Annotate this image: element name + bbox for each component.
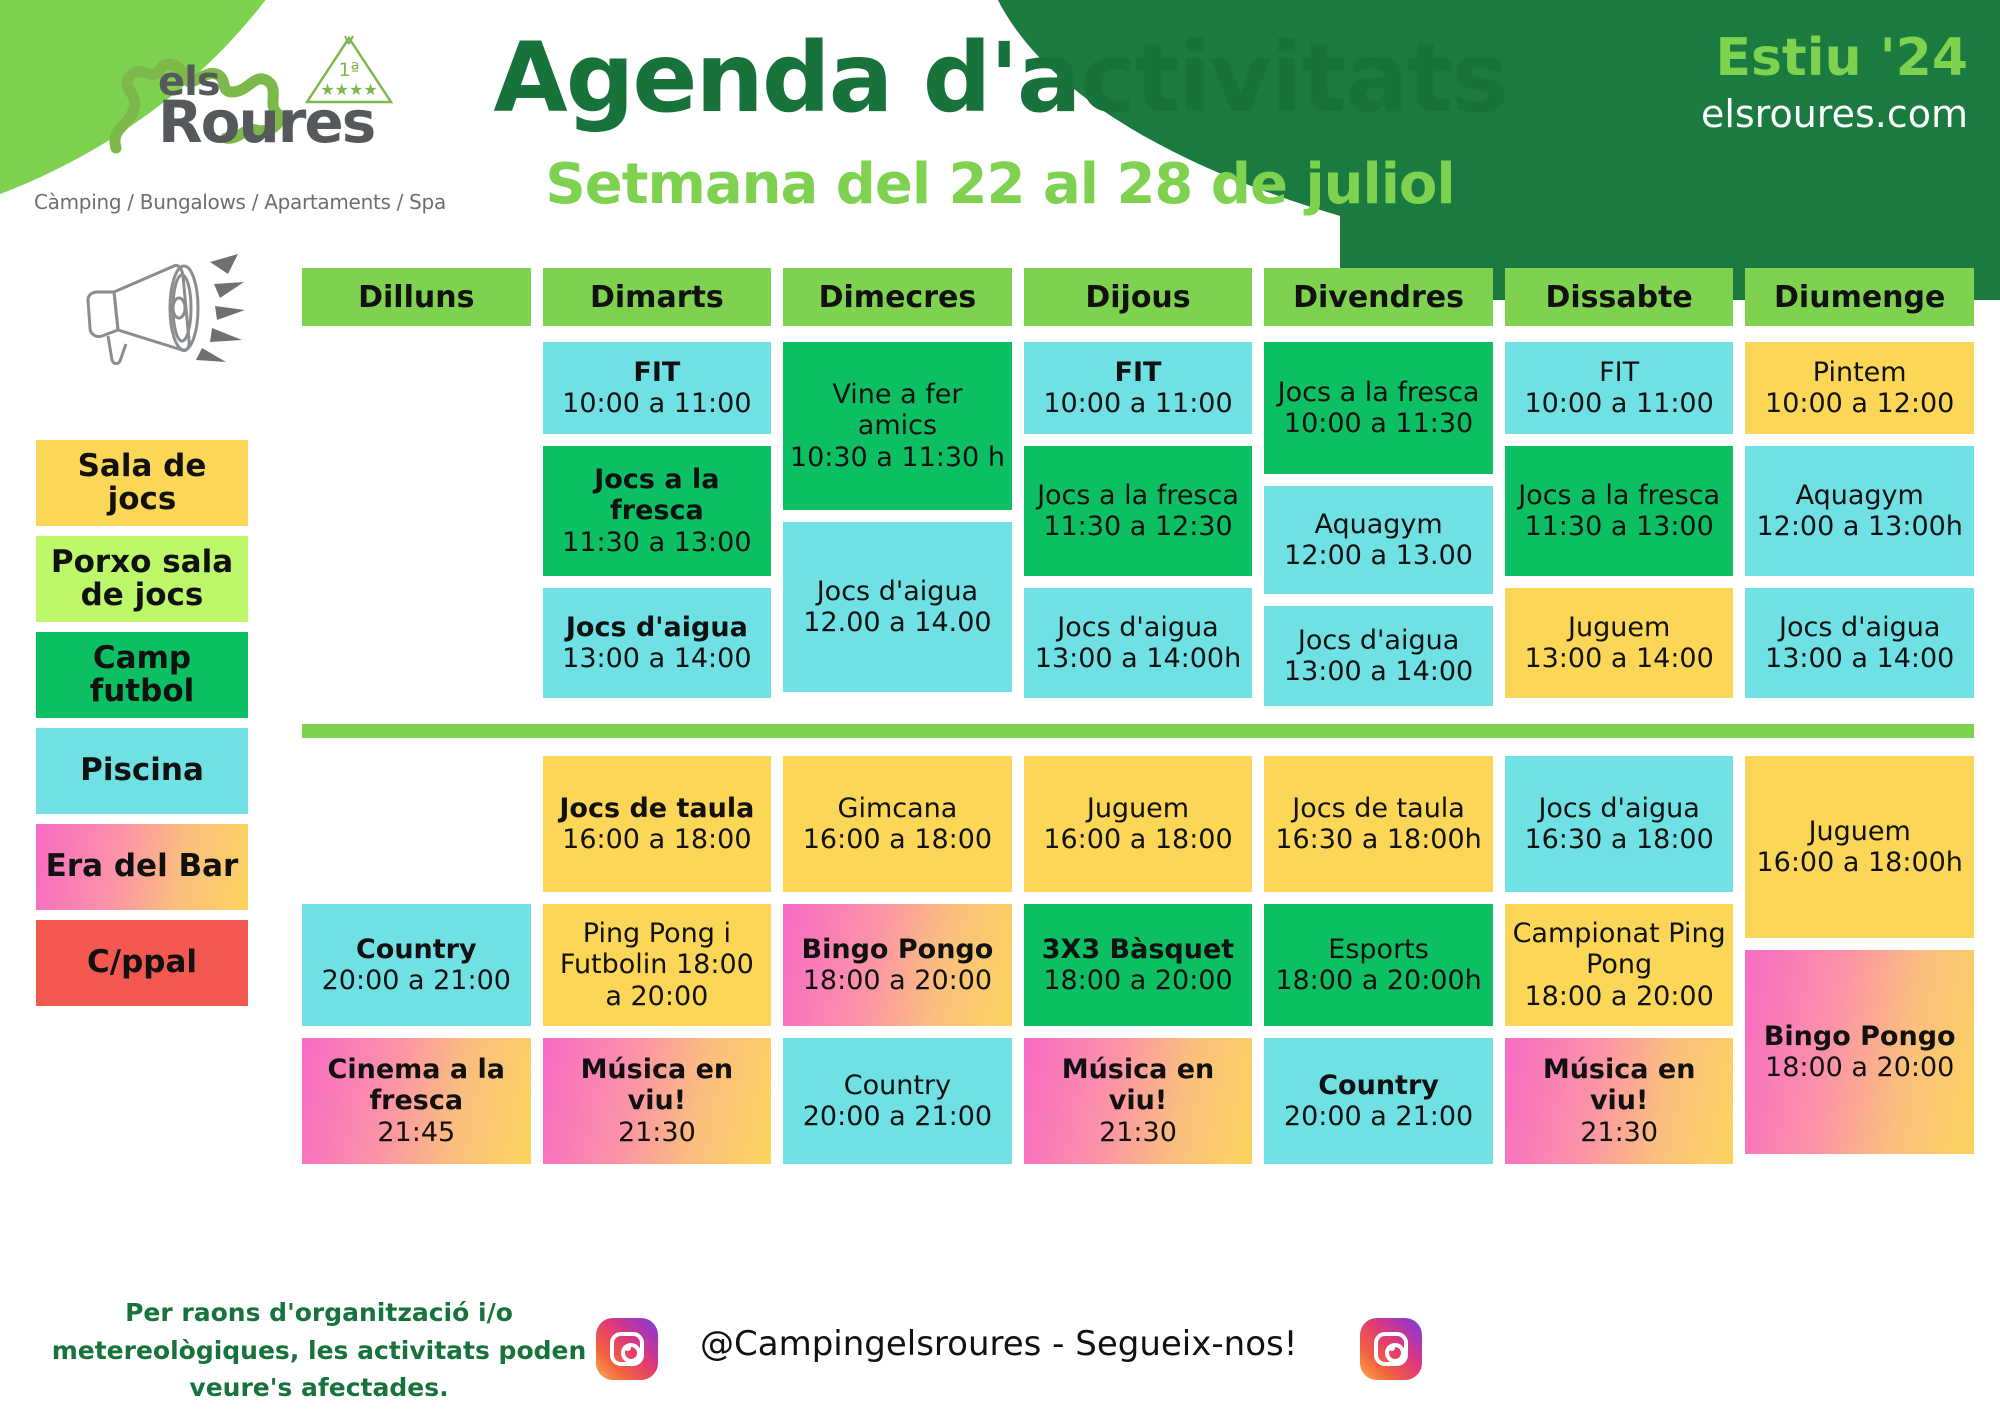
activity-title: Aquagym: [1314, 509, 1442, 540]
activity-title: Jocs d'aigua: [1298, 625, 1459, 656]
day-header-dimecres: Dimecres: [783, 268, 1012, 326]
instagram-icon[interactable]: [596, 1318, 658, 1380]
activity-time: 20:00 a 21:00: [803, 1101, 992, 1132]
activity-cell: Jocs a la fresca11:30 a 13:00: [543, 446, 772, 576]
afternoon-column-diumenge: Juguem16:00 a 18:00hBingo Pongo18:00 a 2…: [1745, 756, 1974, 1154]
morning-column-dijous: FIT10:00 a 11:00Jocs a la fresca11:30 a …: [1024, 342, 1253, 698]
activity-cell: 3X3 Bàsquet18:00 a 20:00: [1024, 904, 1253, 1026]
activity-cell: Gimcana16:00 a 18:00: [783, 756, 1012, 892]
legend-item: Era del Bar: [36, 824, 248, 910]
activity-title: Bingo Pongo: [1764, 1021, 1956, 1052]
activity-title: Jocs a la fresca: [1518, 480, 1720, 511]
day-header-dissabte: Dissabte: [1505, 268, 1734, 326]
activity-time: 10:00 a 12:00: [1765, 388, 1954, 419]
activity-time: 10:00 a 11:30: [1284, 408, 1473, 439]
activity-title: 3X3 Bàsquet: [1042, 934, 1234, 965]
activity-cell: FIT10:00 a 11:00: [1505, 342, 1734, 434]
activity-time: 16:30 a 18:00h: [1275, 824, 1481, 855]
morning-column-dimecres: Vine a fer amics10:30 a 11:30 hJocs d'ai…: [783, 342, 1012, 692]
activity-title: Gimcana: [838, 793, 958, 824]
day-header-row: DillunsDimartsDimecresDijousDivendresDis…: [302, 268, 1974, 326]
activity-time: 13:00 a 14:00: [562, 643, 751, 674]
activity-time: 21:30: [1580, 1117, 1658, 1148]
page-subtitle: Setmana del 22 al 28 de juliol: [0, 152, 2000, 217]
activity-time: 12:00 a 13.00: [1284, 540, 1473, 571]
activity-cell: Country20:00 a 21:00: [1264, 1038, 1493, 1164]
activity-cell: Cinema a la fresca21:45: [302, 1038, 531, 1164]
activity-time: 13:00 a 14:00: [1765, 643, 1954, 674]
megaphone-icon: [78, 248, 246, 366]
activity-time: 18:00 a 20:00: [1043, 965, 1232, 996]
legend-item: Piscina: [36, 728, 248, 814]
legend-item-label: Piscina: [80, 754, 204, 787]
afternoon-activities-row: Country20:00 a 21:00Cinema a la fresca21…: [302, 756, 1974, 1164]
legend-item-label: Porxo sala de jocs: [42, 546, 242, 613]
activity-cell: Jocs d'aigua13:00 a 14:00h: [1024, 588, 1253, 698]
activity-time: 20:00 a 21:00: [322, 965, 511, 996]
afternoon-column-dilluns: Country20:00 a 21:00Cinema a la fresca21…: [302, 756, 531, 1164]
activity-cell: Country20:00 a 21:00: [783, 1038, 1012, 1164]
activity-cell: Jocs a la fresca11:30 a 12:30: [1024, 446, 1253, 576]
day-header-dilluns: Dilluns: [302, 268, 531, 326]
activity-cell: Jocs d'aigua12.00 a 14.00: [783, 522, 1012, 692]
activity-title: Juguem: [1568, 612, 1670, 643]
disclaimer-text: Per raons d'organització i/o metereològi…: [34, 1294, 604, 1407]
activity-cell: Jocs de taula16:30 a 18:00h: [1264, 756, 1493, 892]
activity-title: Música en viu!: [1030, 1054, 1247, 1117]
activity-title: Ping Pong i Futbolin 18:00 a 20:00: [549, 918, 766, 1012]
legend-item-label: Era del Bar: [46, 850, 239, 883]
activity-title: Música en viu!: [549, 1054, 766, 1117]
activity-title: Aquagym: [1796, 480, 1924, 511]
activity-time: 13:00 a 14:00: [1284, 656, 1473, 687]
activity-time: 18:00 a 20:00h: [1275, 965, 1481, 996]
activity-cell: FIT10:00 a 11:00: [543, 342, 772, 434]
schedule-grid: DillunsDimartsDimecresDijousDivendresDis…: [302, 268, 1974, 1164]
activity-cell: Jocs de taula16:00 a 18:00: [543, 756, 772, 892]
activity-cell: Aquagym12:00 a 13:00h: [1745, 446, 1974, 576]
activity-time: 16:00 a 18:00: [803, 824, 992, 855]
day-header-dijous: Dijous: [1024, 268, 1253, 326]
activity-cell: Música en viu!21:30: [1024, 1038, 1253, 1164]
activity-cell: Country20:00 a 21:00: [302, 904, 531, 1026]
activity-cell: Juguem16:00 a 18:00: [1024, 756, 1253, 892]
activity-time: 11:30 a 12:30: [1043, 511, 1232, 542]
activity-title: Jocs a la fresca: [1278, 377, 1480, 408]
morning-activities-row: FIT10:00 a 11:00Jocs a la fresca11:30 a …: [302, 342, 1974, 706]
activity-time: 11:30 a 13:00: [1524, 511, 1713, 542]
activity-time: 20:00 a 21:00: [1284, 1101, 1473, 1132]
activity-title: Vine a fer amics: [789, 379, 1006, 442]
season-label: Estiu '24: [1701, 28, 1968, 88]
activity-time: 18:00 a 20:00: [803, 965, 992, 996]
activity-title: Campionat Ping Pong: [1511, 918, 1728, 981]
activity-title: Música en viu!: [1511, 1054, 1728, 1117]
activity-title: Juguem: [1087, 793, 1189, 824]
afternoon-column-dissabte: Jocs d'aigua16:30 a 18:00Campionat Ping …: [1505, 756, 1734, 1164]
activity-time: 13:00 a 14:00h: [1035, 643, 1241, 674]
activity-title: Esports: [1328, 934, 1429, 965]
activity-time: 21:30: [1099, 1117, 1177, 1148]
legend-item: C/ppal: [36, 920, 248, 1006]
activity-cell: Jocs d'aigua16:30 a 18:00: [1505, 756, 1734, 892]
activity-cell: Bingo Pongo18:00 a 20:00: [783, 904, 1012, 1026]
afternoon-column-dimarts: Jocs de taula16:00 a 18:00Ping Pong i Fu…: [543, 756, 772, 1164]
activity-cell: Juguem13:00 a 14:00: [1505, 588, 1734, 698]
legend-item-label: C/ppal: [87, 946, 197, 979]
activity-cell: Campionat Ping Pong18:00 a 20:00: [1505, 904, 1734, 1026]
activity-time: 12.00 a 14.00: [803, 607, 991, 638]
activity-title: Country: [356, 934, 477, 965]
activity-time: 10:30 a 11:30 h: [790, 442, 1005, 473]
activity-title: Juguem: [1809, 816, 1911, 847]
activity-title: Country: [1318, 1070, 1439, 1101]
activity-time: 16:00 a 18:00: [562, 824, 751, 855]
activity-title: Pintem: [1813, 357, 1907, 388]
day-header-divendres: Divendres: [1264, 268, 1493, 326]
activity-title: Jocs a la fresca: [1037, 480, 1239, 511]
activity-time: 16:00 a 18:00: [1043, 824, 1232, 855]
morning-column-dimarts: FIT10:00 a 11:00Jocs a la fresca11:30 a …: [543, 342, 772, 698]
legend-item: Porxo sala de jocs: [36, 536, 248, 622]
activity-cell: Jocs d'aigua13:00 a 14:00: [543, 588, 772, 698]
activity-title: Jocs d'aigua: [566, 612, 748, 643]
activity-title: Jocs d'aigua: [1779, 612, 1940, 643]
morning-column-dissabte: FIT10:00 a 11:00Jocs a la fresca11:30 a …: [1505, 342, 1734, 698]
activity-time: 10:00 a 11:00: [1524, 388, 1713, 419]
section-divider: [302, 724, 1974, 738]
website-label: elsroures.com: [1701, 92, 1968, 136]
activity-title: Jocs d'aigua: [817, 576, 978, 607]
activity-cell: Jocs a la fresca10:00 a 11:30: [1264, 342, 1493, 474]
poster-footer: Per raons d'organització i/o metereològi…: [0, 1280, 2000, 1400]
legend-item-label: Camp futbol: [42, 642, 242, 709]
day-header-dimarts: Dimarts: [543, 268, 772, 326]
activity-cell: Música en viu!21:30: [1505, 1038, 1734, 1164]
activity-time: 13:00 a 14:00: [1524, 643, 1713, 674]
activity-cell: FIT10:00 a 11:00: [1024, 342, 1253, 434]
legend-item-label: Sala de jocs: [42, 450, 242, 517]
activity-title: Cinema a la fresca: [308, 1054, 525, 1117]
morning-column-divendres: Jocs a la fresca10:00 a 11:30Aquagym12:0…: [1264, 342, 1493, 706]
activity-time: 11:30 a 13:00: [562, 527, 751, 558]
legend-item: Camp futbol: [36, 632, 248, 718]
activity-cell: Bingo Pongo18:00 a 20:00: [1745, 950, 1974, 1154]
activity-cell: Jocs d'aigua13:00 a 14:00: [1745, 588, 1974, 698]
venue-legend: Sala de jocsPorxo sala de jocsCamp futbo…: [36, 440, 248, 1016]
social-handle[interactable]: @Campingelsroures - Segueix-nos!: [700, 1324, 1297, 1364]
activity-time: 12:00 a 13:00h: [1756, 511, 1962, 542]
legend-item: Sala de jocs: [36, 440, 248, 526]
activity-title: Jocs d'aigua: [1057, 612, 1218, 643]
activity-cell: Ping Pong i Futbolin 18:00 a 20:00: [543, 904, 772, 1026]
activity-cell: Esports18:00 a 20:00h: [1264, 904, 1493, 1026]
activity-time: 16:00 a 18:00h: [1756, 847, 1962, 878]
activity-cell: Vine a fer amics10:30 a 11:30 h: [783, 342, 1012, 510]
activity-time: 10:00 a 11:00: [1043, 388, 1232, 419]
activity-title: FIT: [1599, 357, 1639, 388]
activity-time: 10:00 a 11:00: [562, 388, 751, 419]
activity-time: 21:30: [618, 1117, 696, 1148]
activity-time: 21:45: [377, 1117, 455, 1148]
activity-title: Bingo Pongo: [802, 934, 994, 965]
activity-title: FIT: [633, 357, 680, 388]
season-badge: Estiu '24 elsroures.com: [1701, 28, 1968, 136]
afternoon-column-dijous: Juguem16:00 a 18:003X3 Bàsquet18:00 a 20…: [1024, 756, 1253, 1164]
activity-time: 18:00 a 20:00: [1765, 1052, 1954, 1083]
activity-title: Jocs d'aigua: [1538, 793, 1699, 824]
activity-cell: Juguem16:00 a 18:00h: [1745, 756, 1974, 938]
activity-cell: Música en viu!21:30: [543, 1038, 772, 1164]
afternoon-column-dimecres: Gimcana16:00 a 18:00Bingo Pongo18:00 a 2…: [783, 756, 1012, 1164]
activity-cell: Jocs d'aigua13:00 a 14:00: [1264, 606, 1493, 706]
activity-time: 16:30 a 18:00: [1524, 824, 1713, 855]
activity-title: Jocs de taula: [1292, 793, 1465, 824]
morning-column-diumenge: Pintem10:00 a 12:00Aquagym12:00 a 13:00h…: [1745, 342, 1974, 698]
activity-title: Jocs a la fresca: [549, 464, 766, 527]
activity-agenda-poster: els Roures 1ª ★★★★ Càmping / Bungalows /…: [0, 0, 2000, 1414]
activity-cell: Aquagym12:00 a 13.00: [1264, 486, 1493, 594]
activity-time: 18:00 a 20:00: [1524, 981, 1713, 1012]
instagram-icon[interactable]: [1360, 1318, 1422, 1380]
activity-title: Country: [844, 1070, 951, 1101]
activity-title: FIT: [1115, 357, 1162, 388]
activity-cell: Pintem10:00 a 12:00: [1745, 342, 1974, 434]
afternoon-column-divendres: Jocs de taula16:30 a 18:00hEsports18:00 …: [1264, 756, 1493, 1164]
activity-title: Jocs de taula: [559, 793, 754, 824]
day-header-diumenge: Diumenge: [1745, 268, 1974, 326]
activity-cell: Jocs a la fresca11:30 a 13:00: [1505, 446, 1734, 576]
